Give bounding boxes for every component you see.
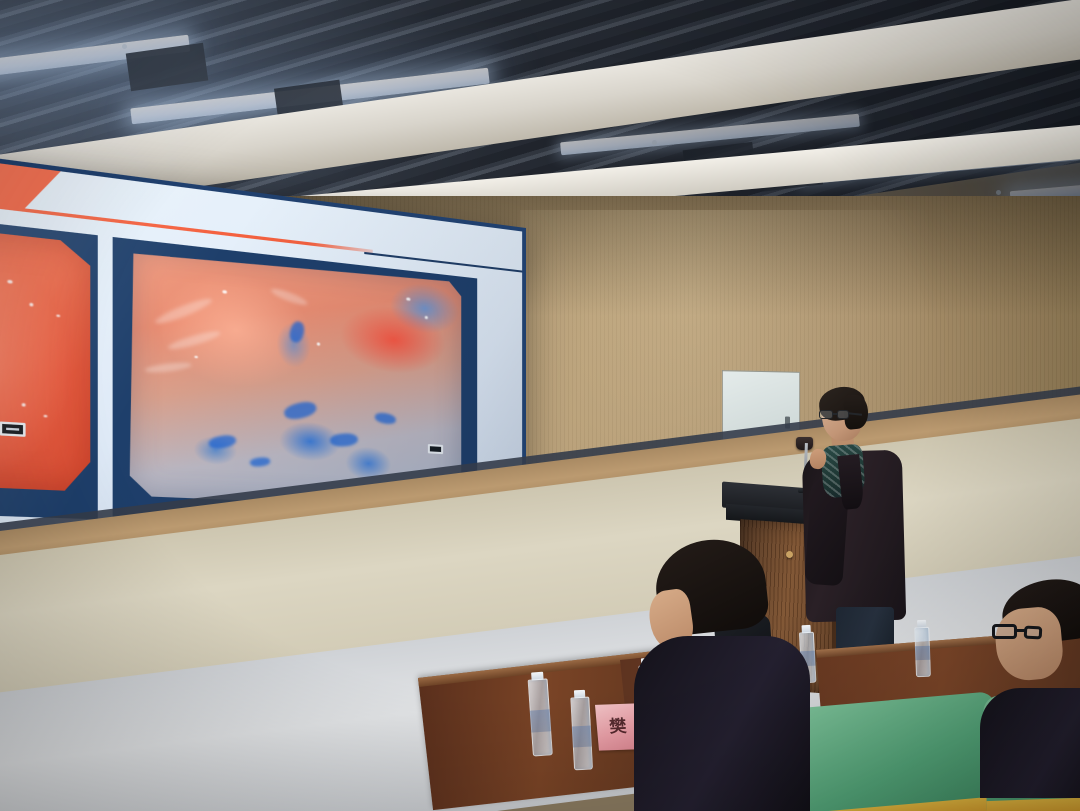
presenter-glasses-icon <box>819 410 853 419</box>
endoscope-indicator-badge <box>428 444 443 454</box>
endoscopic-image-right <box>130 246 461 510</box>
conference-room-photo: ID: Name: Sex: Age: D.O.B.: 22/02/2021 1… <box>0 0 1080 811</box>
water-bottle[interactable] <box>914 620 931 677</box>
ceiling-sensor-icon <box>652 140 657 145</box>
endoscope-indicator-badge <box>0 422 25 437</box>
presenter-at-podium <box>800 385 910 680</box>
audience-glasses-icon <box>992 624 1040 639</box>
endoscopic-image-left <box>0 218 90 491</box>
ceiling-sensor-icon <box>996 190 1001 195</box>
name-placard-text: 樊 <box>609 718 627 736</box>
ceiling-sensor-icon <box>122 44 127 49</box>
audience-member-front <box>640 540 800 811</box>
audience-member-right <box>980 580 1080 760</box>
conference-chair[interactable] <box>785 691 1005 811</box>
endoscopic-image-left-panel <box>0 213 98 520</box>
